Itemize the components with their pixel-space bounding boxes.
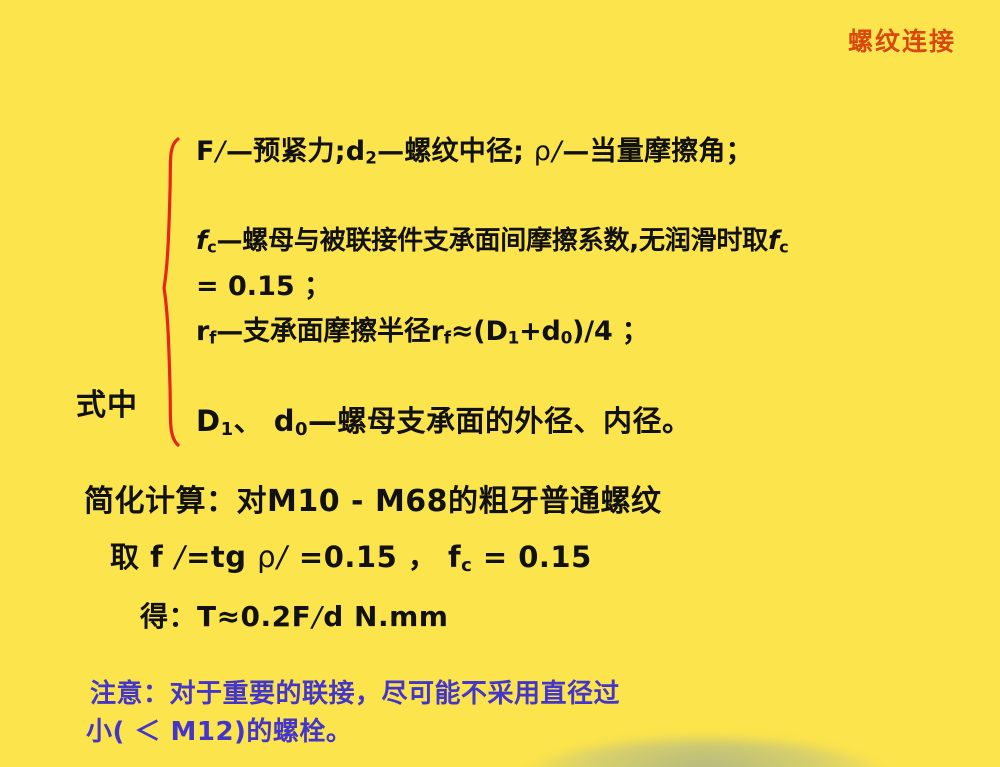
symbol-D: D xyxy=(485,316,507,347)
dash: — xyxy=(216,226,242,256)
formula-tail: )/4 ； xyxy=(572,316,648,347)
symbol-d: d xyxy=(542,316,561,347)
dash: — xyxy=(216,316,243,347)
dash-2: — xyxy=(377,136,404,167)
where-line-3: = 0.15 ； xyxy=(196,273,331,300)
approx-open-paren: ≈( xyxy=(451,316,486,347)
left-curly-brace-icon xyxy=(158,136,184,448)
subscript-1: 1 xyxy=(221,419,234,440)
subscript-2: 2 xyxy=(365,148,377,168)
slash-2: / xyxy=(551,136,562,167)
slide-title: 螺纹连接 xyxy=(848,22,956,58)
subscript-c-2: c xyxy=(779,238,788,257)
subscript-f-2: f xyxy=(444,328,451,348)
term-nut-bearing-friction-coefficient: 螺母与被联接件支承面间摩擦系数,无润滑时取 xyxy=(242,226,768,256)
symbol-D: D xyxy=(196,404,221,438)
note-line-2: 小( ＜ M12)的螺栓。 xyxy=(86,714,710,752)
where-line-5: D1、 d0—螺母支承面的外径、内径。 xyxy=(196,407,692,439)
simplified-calc-result: 得：T≈0.2F/d N.mm xyxy=(140,603,448,631)
symbol-r-2: r xyxy=(431,316,444,347)
simplified-calc-assumption: 取 f /=tg ρ/ =0.15 ， fc = 0.15 xyxy=(110,543,592,575)
slash-2: / xyxy=(276,540,288,574)
take-lead: 取 f xyxy=(110,540,174,574)
symbol-d: d xyxy=(346,136,366,167)
symbol-rho: ρ xyxy=(257,540,276,574)
slash: / xyxy=(311,600,323,633)
term-bearing-friction-radius: 支承面摩擦半径 xyxy=(243,316,431,347)
simplified-calc-heading: 简化计算：对M10 - M68的粗牙普通螺纹 xyxy=(84,487,662,517)
separator: 、 xyxy=(234,404,274,438)
term-pitch-diameter: 螺纹中径; xyxy=(404,136,533,167)
note-block: 注意：对于重要的联接，尽可能不采用直径过 小( ＜ M12)的螺栓。 xyxy=(90,676,710,751)
plus-sign: + xyxy=(519,316,541,347)
value-0-15: =0.15 ， xyxy=(288,540,448,574)
slash-1: / xyxy=(174,540,186,574)
where-clause-block: 式中 F/—预紧力;d2—螺纹中径; ρ/—当量摩擦角； fc—螺母与被联接件支… xyxy=(0,122,1000,462)
dash: — xyxy=(308,404,338,438)
equals-tg: =tg xyxy=(186,540,257,574)
subscript-c: c xyxy=(461,555,472,576)
slash-1: / xyxy=(215,136,226,167)
symbol-f-2: f xyxy=(768,226,779,256)
result-tail: d N.mm xyxy=(323,600,448,633)
where-line-4: rf—支承面摩擦半径rf≈(D1+d0)/4 ； xyxy=(196,318,649,346)
symbol-f: f xyxy=(448,540,461,574)
slide-canvas: 螺纹连接 式中 F/—预紧力;d2—螺纹中径; ρ/—当量摩擦角； fc—螺母与… xyxy=(0,0,1000,767)
note-line-1: 注意：对于重要的联接，尽可能不采用直径过 xyxy=(90,676,710,714)
where-label: 式中 xyxy=(76,380,138,424)
where-line-2: fc—螺母与被联接件支承面间摩擦系数,无润滑时取fc xyxy=(196,228,788,256)
term-nut-bearing-outer-inner-diameter: 螺母支承面的外径、内径。 xyxy=(337,404,691,438)
symbol-rho: ρ xyxy=(534,136,551,167)
subscript-0: 0 xyxy=(561,328,572,348)
result-lead: 得：T≈0.2F xyxy=(140,600,311,633)
symbol-r: r xyxy=(196,316,209,347)
subscript-0: 0 xyxy=(295,419,308,440)
where-line-1: F/—预紧力;d2—螺纹中径; ρ/—当量摩擦角； xyxy=(196,138,753,166)
dash-3: — xyxy=(562,136,589,167)
subscript-1: 1 xyxy=(508,328,519,348)
symbol-f: f xyxy=(196,226,207,256)
value-0-15-2: = 0.15 xyxy=(472,540,592,574)
term-equivalent-friction-angle: 当量摩擦角； xyxy=(590,136,753,167)
symbol-d: d xyxy=(274,404,295,438)
term-preload-force: 预紧力; xyxy=(253,136,346,167)
symbol-F: F xyxy=(196,136,215,167)
dash-1: — xyxy=(226,136,253,167)
